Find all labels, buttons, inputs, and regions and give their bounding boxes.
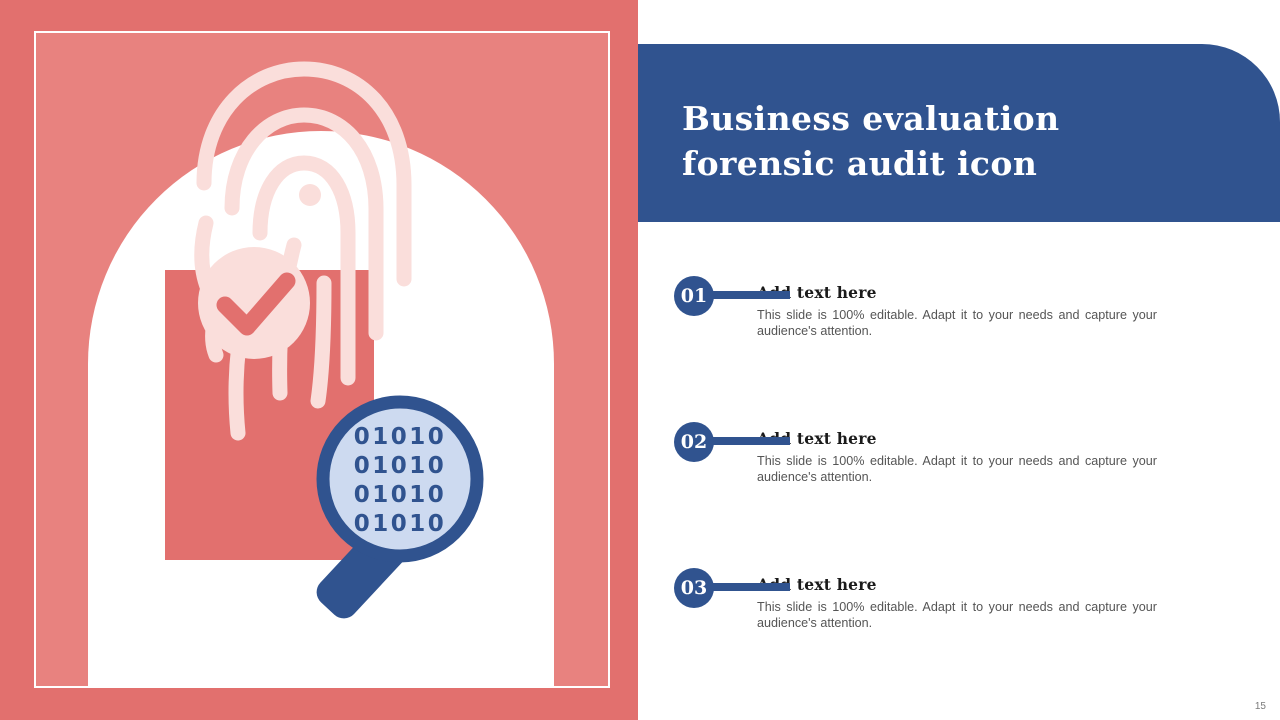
list-item[interactable]: 03 Add text here This slide is 100% edit…: [638, 552, 1280, 698]
right-content-panel: Business evaluation forensic audit icon …: [638, 0, 1280, 720]
page-number: 15: [1255, 701, 1266, 712]
title-banner: Business evaluation forensic audit icon: [638, 44, 1280, 222]
illustration-frame: 01010 01010 01010 01010: [34, 31, 610, 688]
item-number-badge: 03: [674, 568, 714, 608]
slide: 01010 01010 01010 01010 Business evaluat…: [0, 0, 1280, 720]
bullet-list: 01 Add text here This slide is 100% edit…: [638, 260, 1280, 698]
list-item[interactable]: 01 Add text here This slide is 100% edit…: [638, 260, 1280, 406]
arch-shape: [88, 131, 554, 688]
item-description: This slide is 100% editable. Adapt it to…: [757, 453, 1157, 485]
item-number-badge: 01: [674, 276, 714, 316]
list-item[interactable]: 02 Add text here This slide is 100% edit…: [638, 406, 1280, 552]
item-description: This slide is 100% editable. Adapt it to…: [757, 599, 1157, 631]
item-description: This slide is 100% editable. Adapt it to…: [757, 307, 1157, 339]
page-title: Business evaluation forensic audit icon: [682, 96, 1202, 186]
left-visual-panel: 01010 01010 01010 01010: [0, 0, 638, 720]
item-number-badge: 02: [674, 422, 714, 462]
